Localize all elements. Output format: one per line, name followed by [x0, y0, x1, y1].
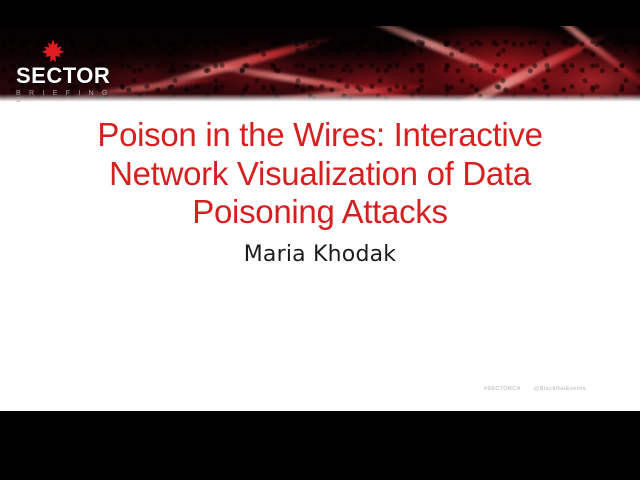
logo-subtitle: B R I E F I N G S	[16, 90, 112, 104]
hashtag-sectorca: #SECTORCA	[484, 386, 521, 392]
handle-blackhatevents: @BlackHatEvents	[534, 386, 586, 392]
logo-wordmark: SECTOR	[16, 65, 112, 87]
title-line-1: Poison in the Wires: Interactive	[14, 116, 626, 155]
footer-social-handles: #SECTORCA @BlackHatEvents	[484, 386, 586, 392]
slide-content: Poison in the Wires: Interactive Network…	[0, 102, 640, 397]
presentation-title: Poison in the Wires: Interactive Network…	[0, 116, 640, 232]
letterbox-bottom-bar	[0, 440, 640, 480]
sector-briefings-logo: SECTOR B R I E F I N G S	[16, 38, 112, 104]
title-line-3: Poisoning Attacks	[14, 193, 626, 232]
title-line-2: Network Visualization of Data	[14, 155, 626, 194]
slide-viewport: SECTOR B R I E F I N G S Poison in the W…	[0, 0, 640, 480]
maple-leaf-icon	[40, 38, 66, 63]
title-slide: SECTOR B R I E F I N G S Poison in the W…	[0, 26, 640, 411]
speaker-name: Maria Khodak	[0, 242, 640, 267]
letterbox-top-bar	[0, 0, 640, 26]
